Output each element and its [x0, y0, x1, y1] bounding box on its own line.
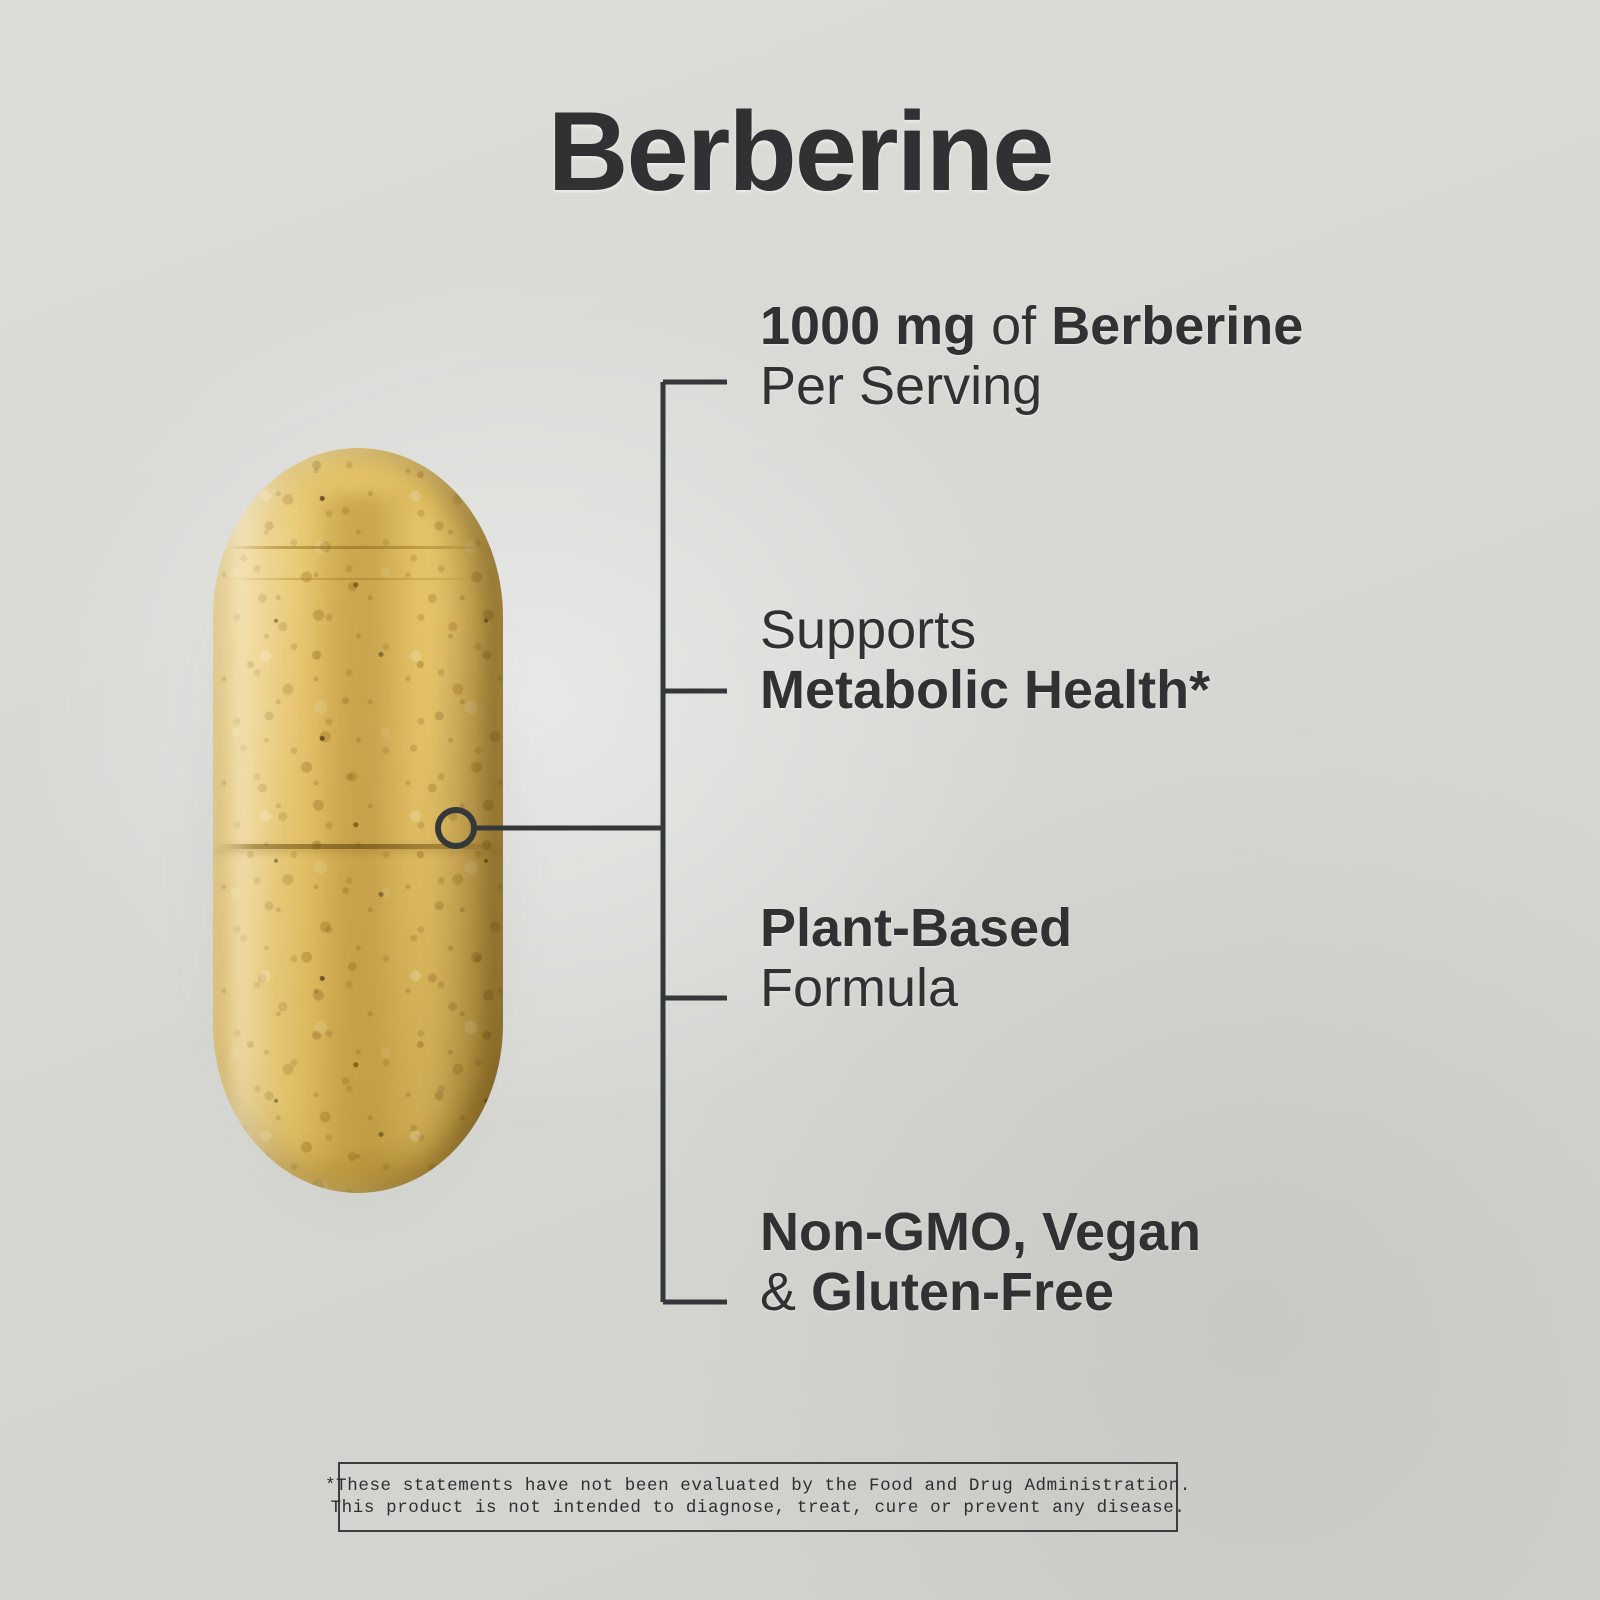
- page-title: Berberine: [0, 96, 1600, 208]
- feature-certifications-line-1: Non-GMO, Vegan: [760, 1202, 1201, 1262]
- feature-dosage-line-2: Per Serving: [760, 356, 1303, 416]
- feature-certifications-gluten-free: Gluten-Free: [811, 1262, 1114, 1322]
- fda-disclaimer-box: *These statements have not been evaluate…: [338, 1462, 1178, 1532]
- feature-metabolic-health: Supports Metabolic Health*: [760, 600, 1210, 721]
- capsule-body: [213, 448, 503, 1193]
- feature-dosage-ingredient: Berberine: [1051, 296, 1303, 356]
- fda-disclaimer-line-2: This product is not intended to diagnose…: [331, 1498, 1186, 1518]
- feature-plant-based: Plant-Based Formula: [760, 898, 1072, 1019]
- feature-metabolic-line-1: Supports: [760, 600, 1210, 660]
- feature-dosage-line-1: 1000 mg of Berberine: [760, 296, 1303, 356]
- feature-plant-based-line-1: Plant-Based: [760, 898, 1072, 958]
- feature-certifications-line-2: & Gluten-Free: [760, 1262, 1201, 1322]
- feature-plant-based-line-2: Formula: [760, 958, 1072, 1018]
- feature-dosage: 1000 mg of Berberine Per Serving: [760, 296, 1303, 417]
- feature-certifications-ampersand: &: [760, 1262, 811, 1322]
- fda-disclaimer-line-1: *These statements have not been evaluate…: [325, 1476, 1191, 1496]
- feature-metabolic-line-2: Metabolic Health*: [760, 660, 1210, 720]
- feature-dosage-connector-word: of: [976, 296, 1051, 356]
- capsule-edge-shading: [213, 448, 503, 1193]
- feature-certifications: Non-GMO, Vegan & Gluten-Free: [760, 1202, 1201, 1323]
- feature-dosage-amount: 1000 mg: [760, 296, 976, 356]
- capsule-image: [213, 448, 503, 1193]
